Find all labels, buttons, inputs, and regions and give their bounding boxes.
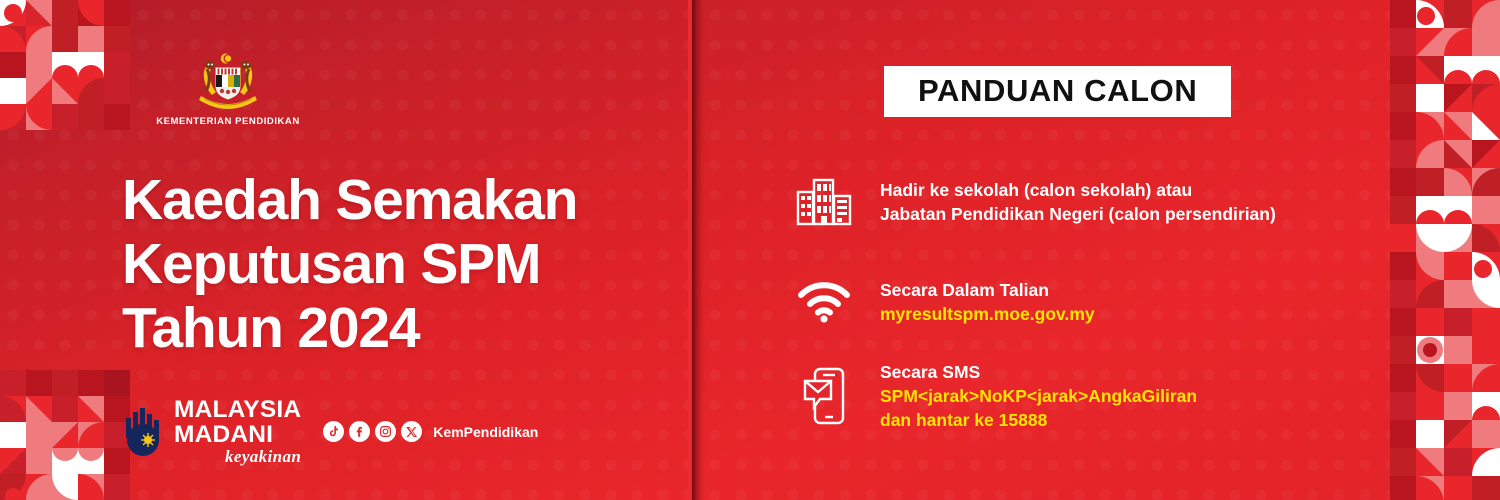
right-panel: PANDUAN CALON — [706, 0, 1500, 500]
buildings-icon — [794, 178, 854, 226]
malaysia-coat-of-arms-icon — [195, 52, 261, 110]
left-panel: KEMENTERIAN PENDIDIKAN Kaedah Semakan Ke… — [0, 0, 692, 500]
guide-line: Secara SMS — [880, 360, 1197, 384]
facebook-icon[interactable] — [349, 421, 370, 442]
guide-text-online: Secara Dalam Talian myresultspm.moe.gov.… — [880, 278, 1095, 326]
ministry-crest-block: KEMENTERIAN PENDIDIKAN — [148, 52, 308, 127]
panduan-calon-label: PANDUAN CALON — [918, 75, 1197, 106]
tiktok-icon[interactable] — [323, 421, 344, 442]
panel-divider-shadow — [692, 0, 706, 500]
guide-line: Secara Dalam Talian — [880, 278, 1095, 302]
madani-line-2: MADANI — [174, 423, 301, 448]
guide-line: Hadir ke sekolah (calon sekolah) atau — [880, 178, 1276, 202]
madani-line-1: MALAYSIA — [174, 398, 301, 423]
guide-text-sms: Secara SMS SPM<jarak>NoKP<jarak>AngkaGil… — [880, 360, 1197, 432]
guide-line-url[interactable]: myresultspm.moe.gov.my — [880, 302, 1095, 326]
footer-row: MALAYSIA MADANI keyakinan — [120, 398, 538, 465]
page-title: Kaedah Semakan Keputusan SPM Tahun 2024 — [122, 168, 577, 360]
spm-results-banner: KEMENTERIAN PENDIDIKAN Kaedah Semakan Ke… — [0, 0, 1500, 500]
madani-tagline: keyakinan — [174, 448, 301, 465]
panduan-calon-header: PANDUAN CALON — [884, 66, 1231, 117]
headline-line-1: Kaedah Semakan — [122, 168, 577, 232]
guide-row-sms: Secara SMS SPM<jarak>NoKP<jarak>AngkaGil… — [794, 360, 1197, 432]
guide-line-sms-format: SPM<jarak>NoKP<jarak>AngkaGiliran — [880, 384, 1197, 408]
madani-wordmark: MALAYSIA MADANI keyakinan — [174, 398, 301, 465]
ministry-label: KEMENTERIAN PENDIDIKAN — [148, 116, 308, 127]
malaysia-madani-logo: MALAYSIA MADANI keyakinan — [120, 398, 301, 465]
guide-text-school: Hadir ke sekolah (calon sekolah) atau Ja… — [880, 178, 1276, 226]
guide-line: Jabatan Pendidikan Negeri (calon persend… — [880, 202, 1276, 226]
x-twitter-icon[interactable] — [401, 421, 422, 442]
headline-line-3: Tahun 2024 — [122, 296, 577, 360]
instagram-icon[interactable] — [375, 421, 396, 442]
wifi-icon — [794, 281, 854, 323]
sms-phone-icon — [794, 367, 854, 425]
headline-line-2: Keputusan SPM — [122, 232, 577, 296]
social-handle: KemPendidikan — [433, 424, 538, 440]
guide-line-sms-number: dan hantar ke 15888 — [880, 408, 1197, 432]
madani-buildings-crescent-icon — [120, 406, 166, 458]
guide-row-online: Secara Dalam Talian myresultspm.moe.gov.… — [794, 278, 1095, 326]
guide-row-school: Hadir ke sekolah (calon sekolah) atau Ja… — [794, 178, 1276, 226]
social-links: KemPendidikan — [323, 421, 538, 442]
